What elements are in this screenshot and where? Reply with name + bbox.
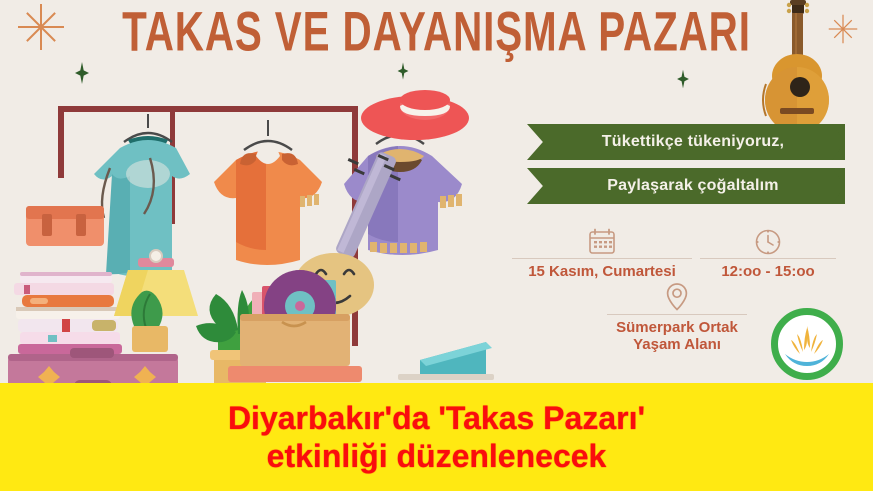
municipality-logo [771, 308, 847, 380]
location-pin-icon [664, 282, 690, 312]
event-time-block: 12:oo - 15:oo [700, 228, 836, 280]
sparkle-star-left-icon [18, 4, 64, 50]
clock-icon [753, 228, 783, 256]
teal-dress [94, 114, 190, 277]
barter-market-illustration [0, 78, 540, 383]
event-poster: TAKAS VE DAYANIŞMA PAZARI Tükettikçe tük… [0, 0, 873, 383]
book-stack [14, 272, 122, 354]
caption-line-2: etkinliği düzenlenecek [267, 437, 607, 475]
page-title: TAKAS VE DAYANIŞMA PAZARI [61, 2, 812, 61]
caption-line-1: Diyarbakır'da 'Takas Pazarı' [228, 399, 645, 437]
event-time-text: 12:oo - 15:oo [700, 263, 836, 280]
slogan-ribbon-1-text: Tükettikçe tükeniyoruz, [567, 133, 845, 151]
slogan-ribbon-2-text: Paylaşarak çoğaltalım [567, 177, 845, 195]
slogan-ribbon-1: Tükettikçe tükeniyoruz, [527, 124, 845, 160]
diamond-center-icon [398, 62, 409, 79]
event-location-block: Sümerpark Ortak Yaşam Alanı [607, 282, 747, 353]
orange-shirt [214, 120, 322, 265]
screenshot-root: TAKAS VE DAYANIŞMA PAZARI Tükettikçe tük… [0, 0, 873, 491]
diamond-right-icon [677, 70, 689, 89]
news-caption-bar: Diyarbakır'da 'Takas Pazarı' etkinliği d… [0, 383, 873, 491]
teal-book [398, 342, 494, 380]
event-location-line2: Yaşam Alanı [607, 336, 747, 353]
red-sun-hat [361, 90, 469, 140]
calendar-icon [587, 228, 617, 256]
wheat-water-logo-icon [771, 308, 843, 380]
event-location-line1: Sümerpark Ortak [607, 319, 747, 336]
acoustic-guitar-icon [752, 0, 848, 134]
slogan-ribbon-2: Paylaşarak çoğaltalım [527, 168, 845, 204]
